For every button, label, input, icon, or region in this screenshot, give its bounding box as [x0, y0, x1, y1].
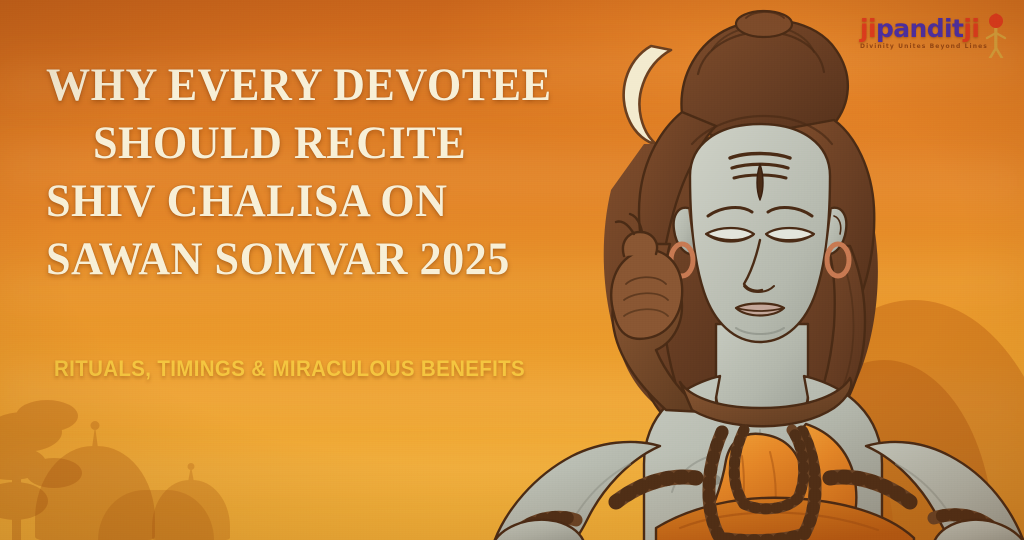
tree-silhouette	[0, 395, 112, 540]
headline-line-3: SHIV CHALISA ON	[46, 178, 610, 225]
logo-ji-right: ji	[963, 14, 979, 43]
headline-line-4: SAWAN SOMVAR 2025	[46, 236, 610, 283]
pandit-figure-icon	[980, 12, 1010, 58]
headline-line-1: WHY EVERY DEVOTEE	[46, 62, 610, 109]
headline-line-2: SHOULD RECITE	[46, 120, 610, 167]
subheadline: RITUALS, TIMINGS & MIRACULOUS BENEFITS	[54, 356, 525, 382]
temple-small	[148, 460, 234, 540]
brand-logo[interactable]: jipanditji Divinity Unites Beyond Lines	[860, 16, 1008, 64]
headline: WHY EVERY DEVOTEE SHOULD RECITE SHIV CHA…	[46, 62, 646, 294]
logo-ji-left: ji	[860, 14, 876, 43]
third-eye	[757, 164, 763, 200]
logo-pandit: pandit	[876, 14, 963, 43]
promo-banner: WHY EVERY DEVOTEE SHOULD RECITE SHIV CHA…	[0, 0, 1024, 540]
